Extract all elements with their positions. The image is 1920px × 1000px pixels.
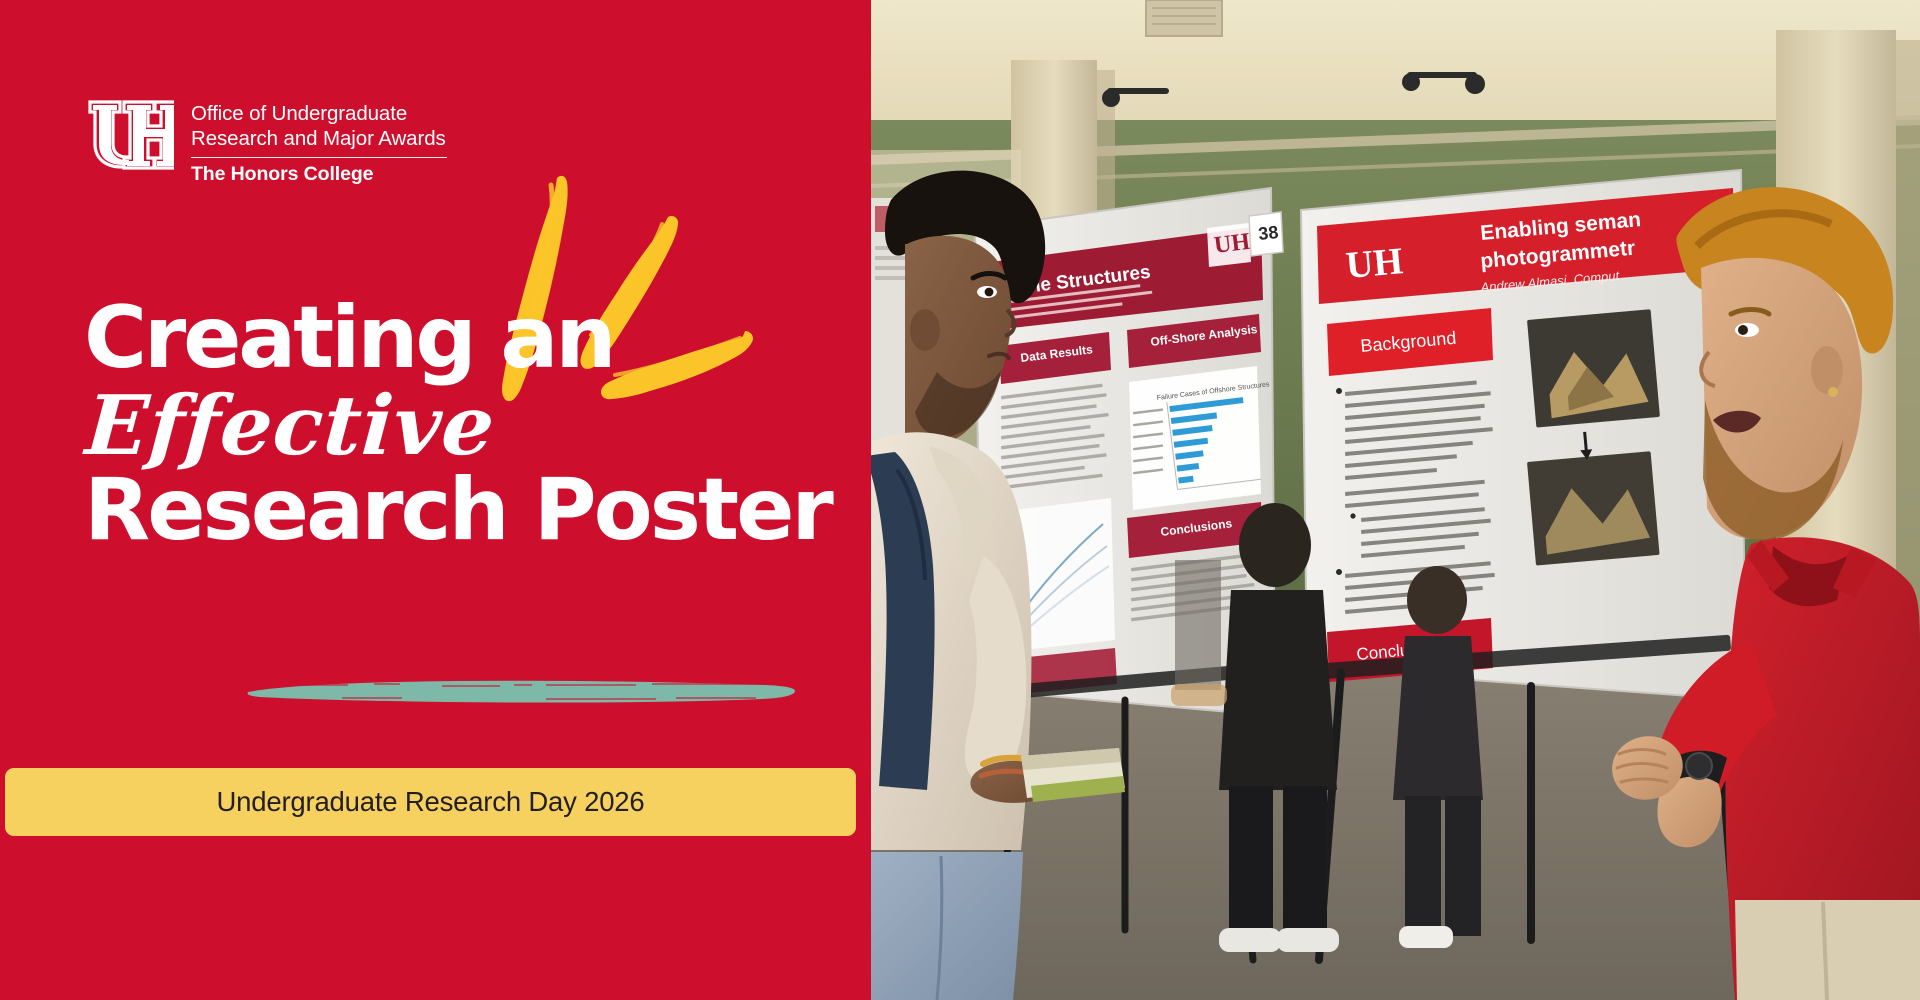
svg-text:38: 38 [1257, 222, 1279, 244]
poster-session-photo: rine Structures UH 38 Data Results Off-S… [871, 0, 1920, 1000]
teal-brush-underline [246, 678, 797, 704]
left-content-panel: Office of Undergraduate Research and Maj… [0, 0, 871, 1000]
logo-line-1: Office of Undergraduate [191, 101, 447, 126]
svg-text:UH: UH [1213, 229, 1252, 259]
headline-line-2-script: Effective [83, 383, 847, 470]
headline-line-1: Creating an [84, 296, 844, 381]
poster-promo-graphic: Office of Undergraduate Research and Maj… [0, 0, 1920, 1000]
logo-honors-college: The Honors College [191, 163, 447, 186]
logo-line-2: Research and Major Awards [191, 126, 447, 151]
event-banner-text: Undergraduate Research Day 2026 [217, 786, 645, 818]
svg-text:UH: UH [1344, 240, 1404, 287]
uh-monogram-icon [86, 96, 174, 176]
page-title: Creating an Effective Research Poster [84, 296, 844, 553]
uh-honors-logo-lockup: Office of Undergraduate Research and Maj… [86, 96, 447, 186]
logo-divider-rule [191, 157, 447, 159]
event-banner: Undergraduate Research Day 2026 [5, 768, 856, 836]
headline-line-3: Research Poster [84, 468, 844, 553]
